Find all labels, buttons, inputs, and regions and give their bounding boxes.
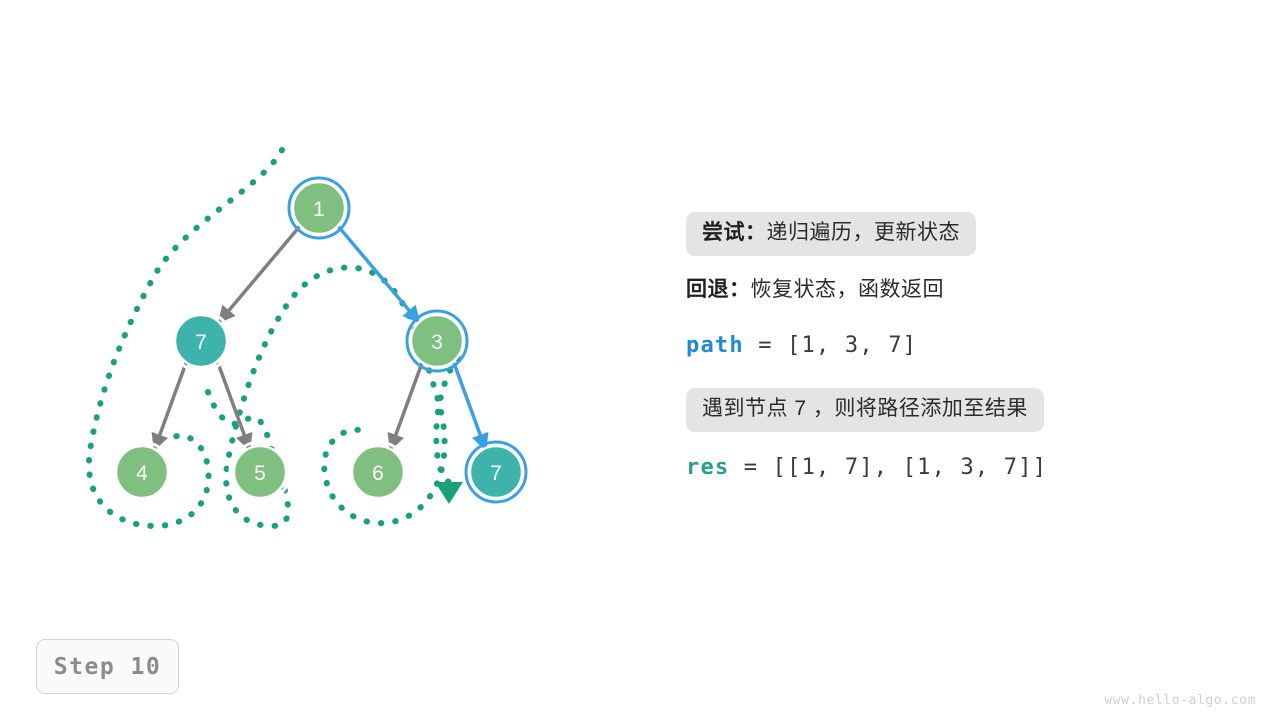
back-line: 回退：恢复状态，函数返回 <box>686 278 944 301</box>
spacer-2 <box>686 312 1246 324</box>
tree-node-1-label: 1 <box>313 198 325 221</box>
watermark: www.hello-algo.com <box>1104 693 1256 708</box>
back-line-row: 回退：恢复状态，函数返回 <box>686 268 1246 312</box>
path-variable-value: = [1, 3, 7] <box>744 333 917 358</box>
step-badge: Step 10 <box>36 639 179 694</box>
tree-node-6[interactable]: 6 <box>348 442 408 502</box>
tree-node-7-right-label: 7 <box>490 462 502 485</box>
note-line: 遇到节点 7 ，则将路径添加至结果 <box>686 388 1044 432</box>
tree-node-7-right[interactable]: 7 <box>466 442 526 502</box>
res-variable-value: = [[1, 7], [1, 3, 7]] <box>729 455 1047 480</box>
canvas: 1 7 3 4 5 6 7 <box>0 0 1280 720</box>
res-line: res = [[1, 7], [1, 3, 7]] <box>686 455 1047 480</box>
try-line: 尝试：递归遍历，更新状态 <box>686 212 976 256</box>
note-line-row: 遇到节点 7 ，则将路径添加至结果 <box>686 388 1246 432</box>
spacer-3 <box>686 368 1246 388</box>
tree-node-7-left-label: 7 <box>195 331 207 354</box>
explanation-panel: 尝试：递归遍历，更新状态 回退：恢复状态，函数返回 path = [1, 3, … <box>686 212 1246 490</box>
tree-node-5[interactable]: 5 <box>230 442 290 502</box>
tree-node-6-label: 6 <box>372 462 384 485</box>
try-line-lead: 尝试： <box>702 221 767 244</box>
tree-node-5-label: 5 <box>254 462 266 485</box>
path-line: path = [1, 3, 7] <box>686 333 917 358</box>
spacer-4 <box>686 432 1246 446</box>
try-line-row: 尝试：递归遍历，更新状态 <box>686 212 1246 256</box>
back-line-lead: 回退： <box>686 278 751 301</box>
step-badge-label: Step 10 <box>54 654 161 680</box>
binary-tree-diagram: 1 7 3 4 5 6 7 <box>60 130 580 550</box>
trail-arrow-head <box>435 482 463 504</box>
tree-node-7-left[interactable]: 7 <box>171 311 231 371</box>
path-line-row: path = [1, 3, 7] <box>686 324 1246 368</box>
tree-node-3-label: 3 <box>431 331 443 354</box>
tree-node-4[interactable]: 4 <box>112 442 172 502</box>
tree-node-3[interactable]: 3 <box>407 311 467 371</box>
tree-node-4-label: 4 <box>136 462 148 485</box>
res-variable-name: res <box>686 455 729 480</box>
path-variable-name: path <box>686 333 744 358</box>
tree-node-1[interactable]: 1 <box>289 178 349 238</box>
back-line-rest: 恢复状态，函数返回 <box>751 278 945 301</box>
spacer-1 <box>686 256 1246 268</box>
res-line-row: res = [[1, 7], [1, 3, 7]] <box>686 446 1246 490</box>
try-line-rest: 递归遍历，更新状态 <box>767 221 961 244</box>
